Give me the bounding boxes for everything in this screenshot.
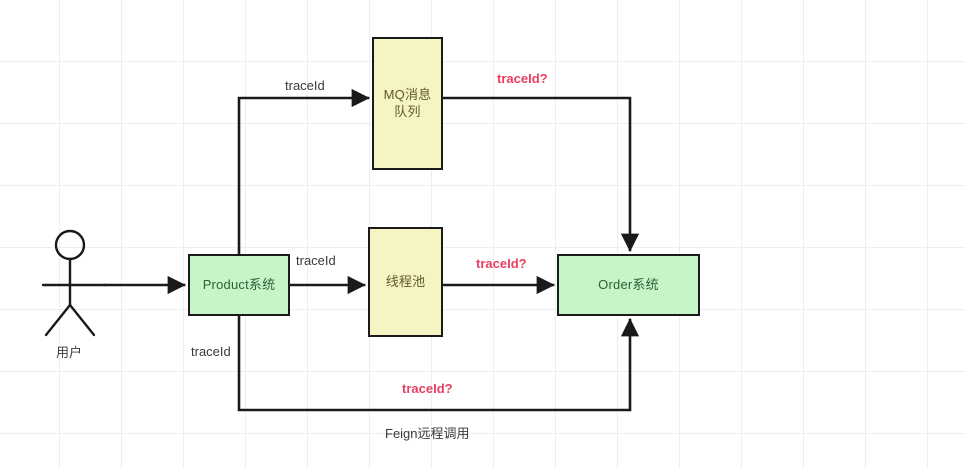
edge-label-product-feign: traceId: [191, 344, 231, 359]
actor-user-label: 用户: [56, 342, 82, 361]
node-thread-pool-label: 线程池: [386, 274, 426, 291]
edge-label-product-to-threadpool: traceId: [296, 253, 336, 268]
node-product-system[interactable]: Product系统: [188, 254, 290, 316]
diagram-edges: [0, 0, 965, 469]
edge-label-product-to-mq: traceId: [285, 78, 325, 93]
node-mq-queue[interactable]: MQ消息 队列: [372, 37, 443, 170]
node-order-system[interactable]: Order系统: [557, 254, 700, 316]
edge-label-threadpool-to-order: traceId?: [476, 256, 527, 271]
actor-user-icon: [43, 231, 105, 335]
node-product-system-label: Product系统: [203, 277, 276, 294]
edge-mq-to-order: [443, 98, 630, 250]
node-mq-queue-label: MQ消息 队列: [384, 87, 432, 120]
diagram-canvas: Product系统 MQ消息 队列 线程池 Order系统 用户 traceId…: [0, 0, 965, 469]
node-order-system-label: Order系统: [598, 277, 659, 294]
edge-label-feign-to-order: traceId?: [402, 381, 453, 396]
edge-label-mq-to-order: traceId?: [497, 71, 548, 86]
node-mq-queue-label-line1: MQ消息: [384, 87, 432, 102]
edge-product-to-mq: [239, 98, 368, 254]
node-mq-queue-label-line2: 队列: [394, 104, 420, 119]
diagram-caption: Feign远程调用: [385, 423, 470, 442]
node-thread-pool[interactable]: 线程池: [368, 227, 443, 337]
